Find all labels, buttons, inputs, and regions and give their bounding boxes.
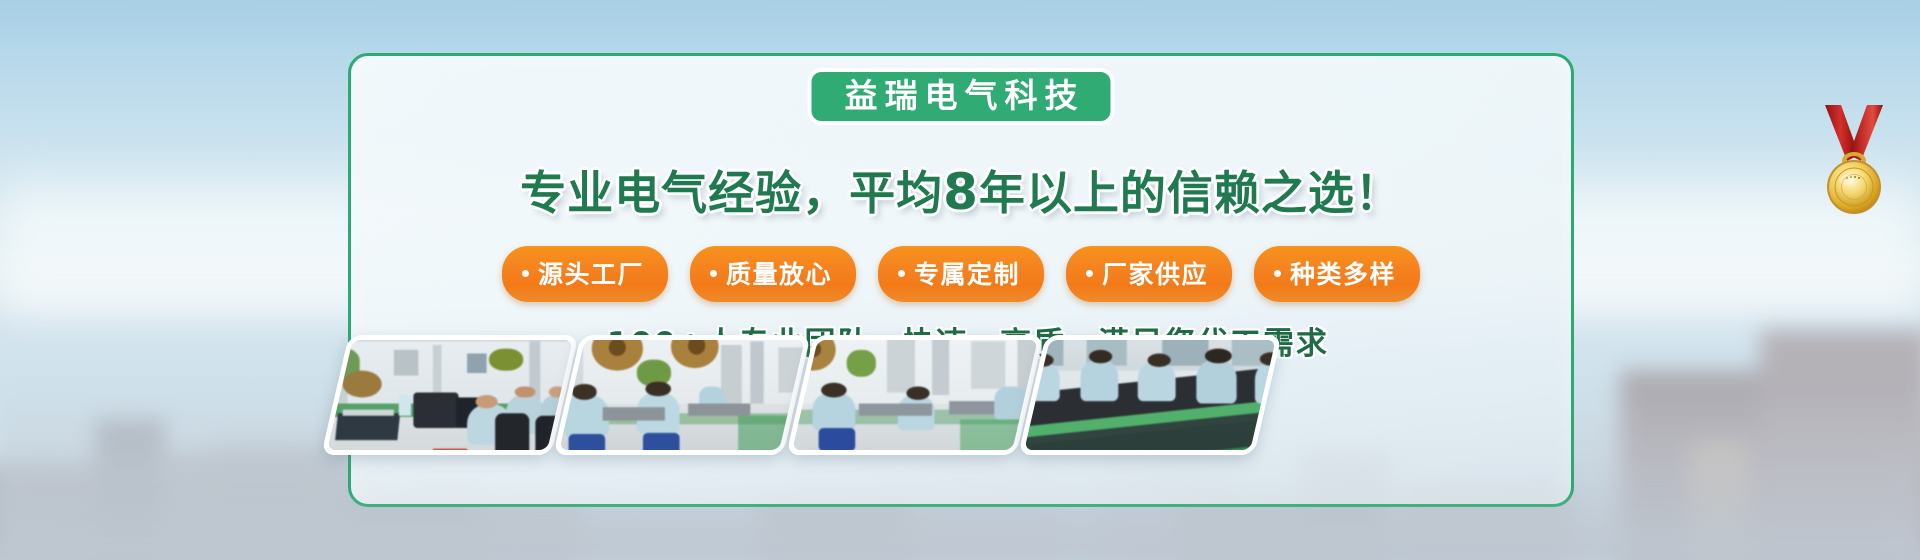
feature-pill-2[interactable]: 质量放心 — [690, 246, 856, 302]
feature-pill-label: 厂家供应 — [1102, 255, 1208, 291]
promo-banner: 益瑞电气科技 — [0, 0, 1920, 560]
bullet-dot-icon — [1274, 270, 1281, 277]
factory-workers-line-photo — [1018, 335, 1282, 455]
feature-pill-list: 源头工厂 质量放心 专属定制 厂家供应 种类多样 — [351, 246, 1571, 302]
feature-pill-label: 种类多样 — [1290, 255, 1396, 291]
factory-workshop-office-photo — [321, 335, 579, 455]
feature-pill-3[interactable]: 专属定制 — [878, 246, 1044, 302]
bullet-dot-icon — [522, 270, 529, 277]
factory-production-bench-photo — [786, 335, 1044, 455]
gallery-item-1[interactable] — [321, 335, 579, 455]
headline: 专业电气经验，平均8年以上的信赖之选！ — [351, 164, 1571, 222]
bullet-dot-icon — [1086, 270, 1093, 277]
feature-pill-label: 源头工厂 — [538, 255, 644, 291]
feature-pill-1[interactable]: 源头工厂 — [502, 246, 668, 302]
feature-pill-label: 专属定制 — [914, 255, 1020, 291]
bullet-dot-icon — [710, 270, 717, 277]
bullet-dot-icon — [898, 270, 905, 277]
headline-part2: 年以上的信赖之选！ — [979, 166, 1402, 220]
feature-pill-label: 质量放心 — [726, 255, 832, 291]
gold-medal-icon — [1819, 103, 1889, 219]
headline-part1: 专业电气经验，平均 — [520, 166, 943, 220]
gallery-item-3[interactable] — [786, 335, 1044, 455]
factory-photo-gallery — [300, 335, 1620, 560]
feature-pill-5[interactable]: 种类多样 — [1254, 246, 1420, 302]
factory-assembly-line-photo — [553, 335, 811, 455]
feature-pill-4[interactable]: 厂家供应 — [1066, 246, 1232, 302]
gallery-item-2[interactable] — [553, 335, 811, 455]
headline-number: 8 — [943, 163, 979, 221]
gallery-item-4[interactable] — [1018, 335, 1282, 455]
brand-badge: 益瑞电气科技 — [808, 68, 1115, 125]
